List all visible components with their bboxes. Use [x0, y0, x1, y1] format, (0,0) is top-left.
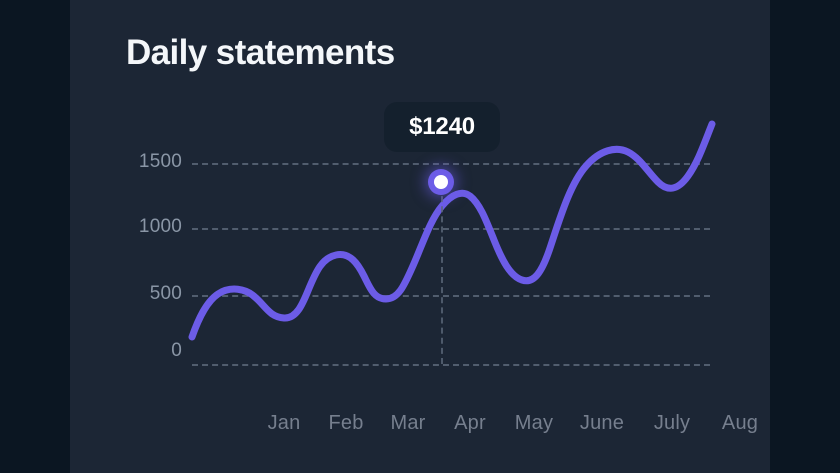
frame-band-right — [770, 0, 840, 473]
x-tick-label-june: June — [580, 412, 624, 435]
value-tooltip: $1240 — [384, 102, 500, 152]
x-tick-label-aug: Aug — [722, 412, 758, 435]
chart-screenshot: Daily statements 1500 1000 500 0 — [0, 0, 840, 473]
x-tick-label-mar: Mar — [390, 412, 425, 435]
series-line-path — [192, 124, 712, 337]
x-axis: Jan Feb Mar Apr May June July Aug — [190, 412, 714, 442]
series-line-svg — [70, 0, 770, 473]
x-tick-label-may: May — [515, 412, 553, 435]
x-tick-label-jan: Jan — [268, 412, 301, 435]
x-tick-label-july: July — [654, 412, 690, 435]
line-chart: 1500 1000 500 0 $1 — [70, 0, 770, 473]
x-tick-label-apr: Apr — [454, 412, 486, 435]
data-point-dot — [434, 175, 448, 189]
frame-band-left — [0, 0, 70, 473]
crosshair-vertical-line — [441, 186, 443, 364]
x-tick-label-feb: Feb — [328, 412, 363, 435]
chart-card-panel: Daily statements 1500 1000 500 0 — [70, 0, 770, 473]
tooltip-value: $1240 — [409, 113, 475, 141]
